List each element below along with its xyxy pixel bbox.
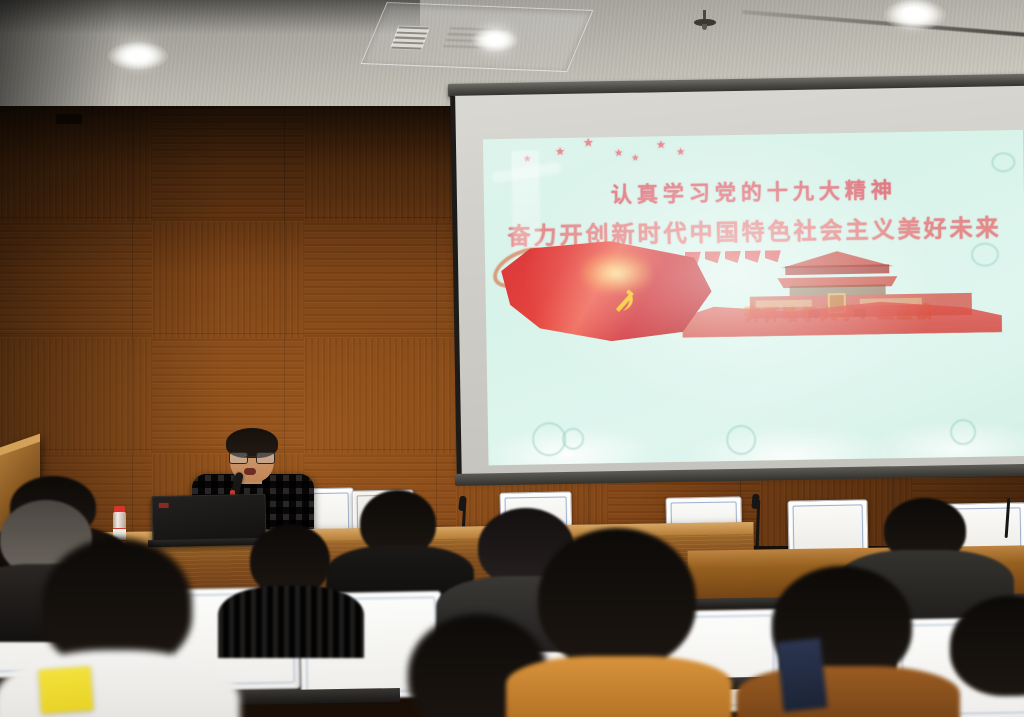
downlight-core <box>486 34 504 44</box>
downlight-core <box>128 50 148 60</box>
lanyard <box>776 638 827 712</box>
flag-light-glare <box>581 252 652 293</box>
presenter-mouth <box>244 468 256 475</box>
star-decoration-icon: ★ <box>656 139 666 150</box>
star-decoration-icon: ★ <box>614 148 623 159</box>
star-decoration-icon: ★ <box>631 154 639 165</box>
cloud-swirl-icon <box>971 242 999 266</box>
laptop-logo <box>159 503 169 508</box>
slide-title-line-1: 认真学习党的十九大精神 <box>484 172 1024 211</box>
projected-slide: ★ ★ ★ ★ ★ ★ ★ ★ 认真学习党的十九大精神 奋力开创新时代中国特色社… <box>483 130 1024 465</box>
lecture-hall-photo: ★ ★ ★ ★ ★ ★ ★ ★ 认真学习党的十九大精神 奋力开创新时代中国特色社… <box>0 0 1024 717</box>
desk-microphone-head <box>751 494 759 510</box>
mini-flag-icon <box>745 251 761 263</box>
cloud-band <box>487 386 1024 465</box>
projection-screen: ★ ★ ★ ★ ★ ★ ★ ★ 认真学习党的十九大精神 奋力开创新时代中国特色社… <box>446 78 1024 500</box>
star-decoration-icon: ★ <box>676 147 685 158</box>
star-decoration-icon: ★ <box>583 137 594 148</box>
ceiling-corner-shadow <box>0 0 120 112</box>
fire-sprinkler-head <box>694 10 716 30</box>
star-decoration-icon: ★ <box>555 146 565 157</box>
mini-flag-icon <box>705 251 721 263</box>
yellow-folder <box>39 666 94 714</box>
audience-member <box>520 528 706 717</box>
eyeglasses-icon <box>229 452 275 462</box>
mini-flag-icon <box>725 251 741 263</box>
audience-member <box>226 524 352 644</box>
cloud-swirl-icon <box>991 152 1015 172</box>
downlight-core <box>902 7 924 18</box>
audience-member <box>950 596 1024 717</box>
